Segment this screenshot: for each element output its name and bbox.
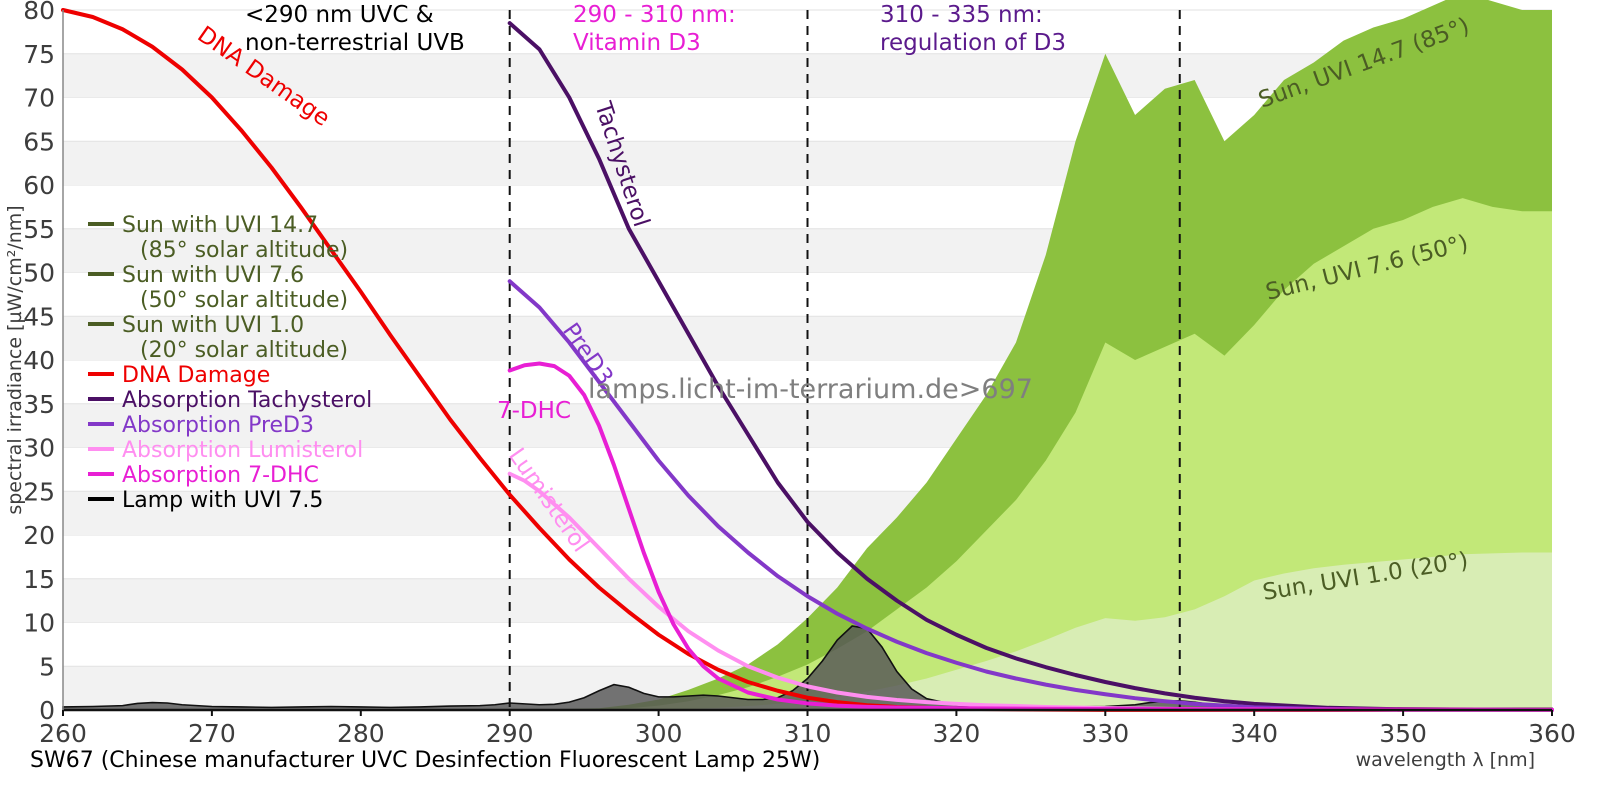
legend-label-5: Absorption PreD3 — [122, 413, 314, 438]
y-tick-15: 15 — [23, 565, 55, 594]
annotation-vitamind3-line1: 290 - 310 nm: — [573, 2, 736, 28]
y-tick-0: 0 — [39, 696, 55, 725]
legend-label-1: Sun with UVI 7.6 — [122, 263, 304, 288]
annotation-uvc-line1: <290 nm UVC & — [245, 2, 434, 28]
y-axis-label: spectral irradiance [µW/cm²/nm] — [4, 205, 26, 514]
annotation-vitamind3-line2: Vitamin D3 — [573, 30, 701, 56]
legend-label-4: Absorption Tachysterol — [122, 388, 372, 413]
annotation-regulation-line1: 310 - 335 nm: — [880, 2, 1043, 28]
x-tick-340: 340 — [1230, 719, 1278, 748]
y-tick-20: 20 — [23, 521, 55, 550]
y-tick-65: 65 — [23, 127, 55, 156]
legend-label-8: Lamp with UVI 7.5 — [122, 488, 323, 513]
x-axis-label: wavelength λ [nm] — [1356, 749, 1535, 771]
legend-sublabel-0: (85° solar altitude) — [140, 238, 348, 263]
chart-caption-text: SW67 (Chinese manufacturer UVC Desinfect… — [30, 748, 820, 773]
annotation-uvc-line2: non-terrestrial UVB — [245, 30, 465, 56]
legend-sublabel-1: (50° solar altitude) — [140, 288, 348, 313]
x-tick-350: 350 — [1379, 719, 1427, 748]
y-tick-25: 25 — [23, 477, 55, 506]
y-tick-30: 30 — [23, 434, 55, 463]
legend-label-0: Sun with UVI 14.7 — [122, 213, 318, 238]
legend-sublabel-2: (20° solar altitude) — [140, 338, 348, 363]
y-tick-50: 50 — [23, 259, 55, 288]
y-tick-45: 45 — [23, 302, 55, 331]
x-tick-270: 270 — [188, 719, 236, 748]
legend-label-3: DNA Damage — [122, 363, 270, 388]
legend-label-7: Absorption 7-DHC — [122, 463, 319, 488]
y-tick-40: 40 — [23, 346, 55, 375]
annotation-regulation: 310 - 335 nm: regulation of D3 — [880, 2, 1066, 56]
chart-caption: SW67 (Chinese manufacturer UVC Desinfect… — [30, 748, 820, 773]
y-axis-ticks: 05101520253035404550556065707580 — [23, 0, 55, 725]
y-tick-60: 60 — [23, 171, 55, 200]
y-tick-10: 10 — [23, 609, 55, 638]
x-tick-330: 330 — [1081, 719, 1129, 748]
watermark: lamps.licht-im-terrarium.de>697 — [588, 374, 1033, 405]
legend-label-2: Sun with UVI 1.0 — [122, 313, 304, 338]
x-tick-280: 280 — [337, 719, 385, 748]
x-tick-320: 320 — [933, 719, 981, 748]
x-tick-300: 300 — [635, 719, 683, 748]
x-tick-310: 310 — [784, 719, 832, 748]
y-tick-35: 35 — [23, 390, 55, 419]
annotation-uvc: <290 nm UVC & non-terrestrial UVB — [245, 2, 465, 56]
y-tick-55: 55 — [23, 215, 55, 244]
chart-figure: 260270280290300310320330340350360 051015… — [0, 0, 1600, 800]
legend-label-6: Absorption Lumisterol — [122, 438, 363, 463]
y-tick-70: 70 — [23, 84, 55, 113]
annotation-regulation-line2: regulation of D3 — [880, 30, 1066, 56]
y-tick-5: 5 — [39, 652, 55, 681]
curve-label-7dhc: 7-DHC — [497, 398, 571, 424]
x-axis-ticks: 260270280290300310320330340350360 — [39, 710, 1576, 748]
x-tick-290: 290 — [486, 719, 534, 748]
spectral-irradiance-chart: 260270280290300310320330340350360 051015… — [0, 0, 1600, 800]
x-tick-360: 360 — [1528, 719, 1576, 748]
y-tick-80: 80 — [23, 0, 55, 25]
annotation-vitamind3: 290 - 310 nm: Vitamin D3 — [573, 2, 736, 56]
y-tick-75: 75 — [23, 40, 55, 69]
